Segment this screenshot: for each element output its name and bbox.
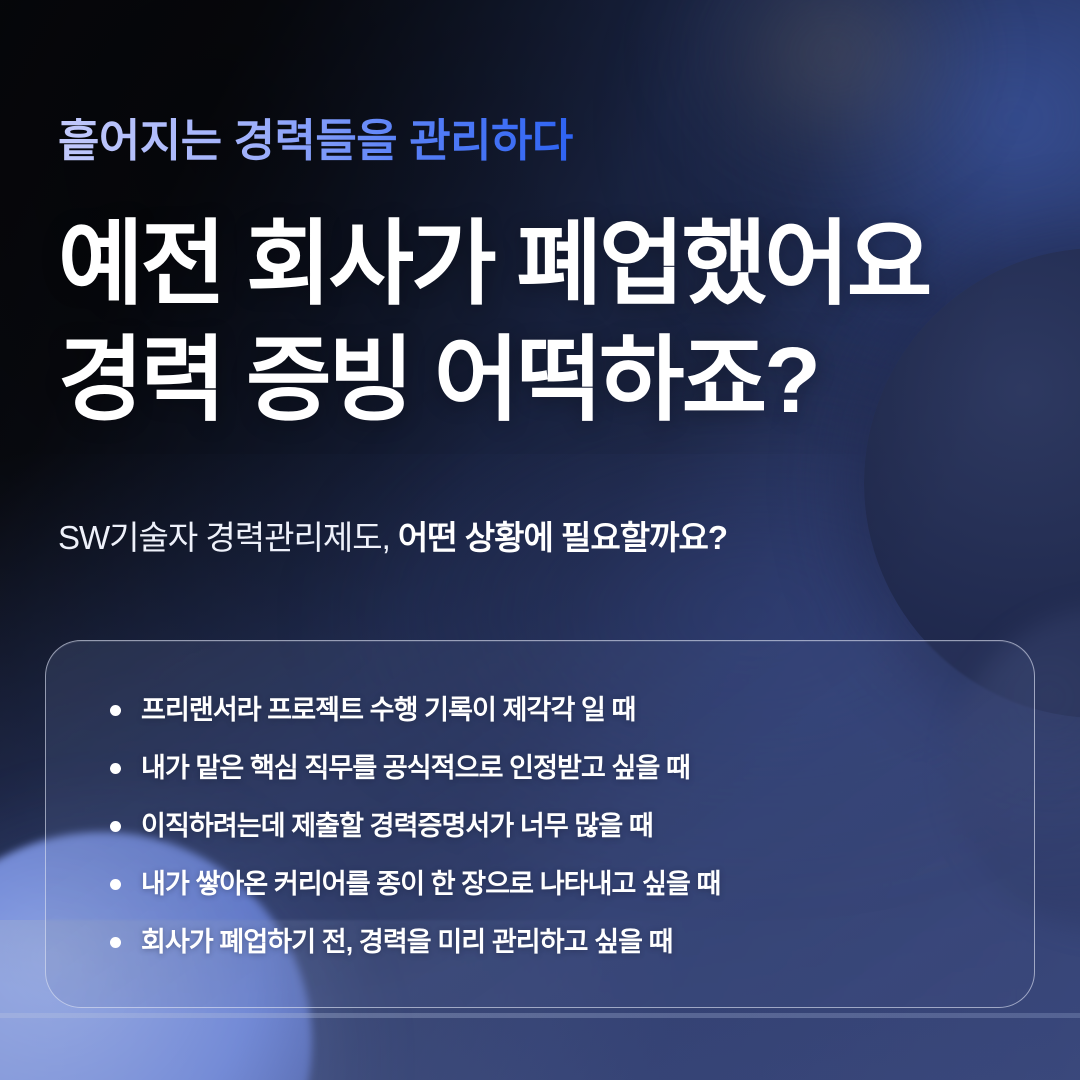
list-item: 프리랜서라 프로젝트 수행 기록이 제각각 일 때 [46, 681, 1034, 739]
subtitle-lead: SW기술자 경력관리제도, [58, 519, 398, 556]
list-item: 이직하려는데 제출할 경력증명서가 너무 많을 때 [46, 797, 1034, 855]
subtitle-emphasis: 어떤 상황에 필요할까요? [398, 519, 727, 556]
headline-line-1: 예전 회사가 폐업했어요 [58, 206, 929, 322]
headline-line-2: 경력 증빙 어떡하죠? [58, 322, 929, 438]
bullet-dot-icon [110, 705, 121, 716]
bullet-dot-icon [110, 937, 121, 948]
bullet-dot-icon [110, 763, 121, 774]
subtitle: SW기술자 경력관리제도, 어떤 상황에 필요할까요? [58, 516, 727, 561]
bullet-dot-icon [110, 879, 121, 890]
list-item-label: 내가 쌓아온 커리어를 종이 한 장으로 나타내고 싶을 때 [141, 871, 721, 898]
list-item-label: 내가 맡은 핵심 직무를 공식적으로 인정받고 싶을 때 [141, 755, 690, 782]
list-item: 내가 맡은 핵심 직무를 공식적으로 인정받고 싶을 때 [46, 739, 1034, 797]
situation-list: 프리랜서라 프로젝트 수행 기록이 제각각 일 때 내가 맡은 핵심 직무를 공… [46, 641, 1034, 971]
list-item-label: 프리랜서라 프로젝트 수행 기록이 제각각 일 때 [141, 697, 635, 724]
bullet-dot-icon [110, 821, 121, 832]
list-item: 내가 쌓아온 커리어를 종이 한 장으로 나타내고 싶을 때 [46, 855, 1034, 913]
list-item-label: 회사가 폐업하기 전, 경력을 미리 관리하고 싶을 때 [141, 929, 673, 956]
list-item: 회사가 폐업하기 전, 경력을 미리 관리하고 싶을 때 [46, 913, 1034, 971]
page-title: 예전 회사가 폐업했어요 경력 증빙 어떡하죠? [58, 206, 929, 439]
eyebrow-text: 흩어지는 경력들을 관리하다 [58, 118, 573, 163]
list-item-label: 이직하려는데 제출할 경력증명서가 너무 많을 때 [141, 813, 653, 840]
poster-content: 흩어지는 경력들을 관리하다 예전 회사가 폐업했어요 경력 증빙 어떡하죠? … [0, 0, 1080, 1080]
situations-card: 프리랜서라 프로젝트 수행 기록이 제각각 일 때 내가 맡은 핵심 직무를 공… [45, 640, 1035, 1008]
poster-card-news: 흩어지는 경력들을 관리하다 예전 회사가 폐업했어요 경력 증빙 어떡하죠? … [0, 0, 1080, 1080]
